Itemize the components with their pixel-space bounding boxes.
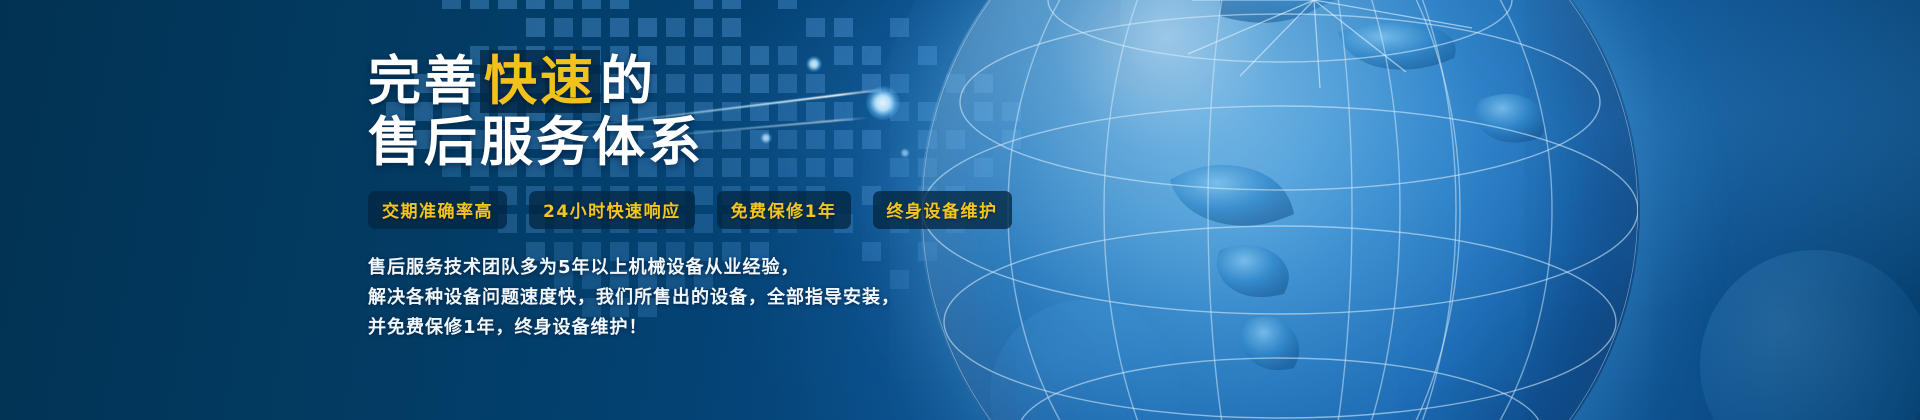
- mosaic-square: [442, 0, 461, 9]
- mosaic-square: [694, 18, 713, 37]
- mosaic-square: [722, 18, 741, 37]
- mosaic-square: [582, 0, 601, 9]
- mosaic-square: [890, 18, 909, 37]
- mosaic-square: [638, 18, 657, 37]
- description-line-2: 解决各种设备问题速度快，我们所售出的设备，全部指导安装，: [368, 283, 1088, 313]
- badge-lifetime-maintenance[interactable]: 终身设备维护: [873, 191, 1012, 229]
- headline-line-2: 售后服务体系: [368, 115, 1088, 171]
- mosaic-square: [778, 0, 797, 9]
- mosaic-square: [610, 18, 629, 37]
- description-line-1: 售后服务技术团队多为5年以上机械设备从业经验，: [368, 253, 1088, 283]
- headline: 完善快速的 售后服务体系: [368, 54, 1088, 171]
- bubble-icon: [1120, 0, 1270, 90]
- badge-24h-response[interactable]: 24小时快速响应: [529, 191, 695, 229]
- mosaic-square: [610, 0, 629, 9]
- badge-delivery-accuracy[interactable]: 交期准确率高: [368, 191, 507, 229]
- mosaic-square: [582, 18, 601, 37]
- bubble-icon: [1700, 250, 1920, 420]
- mosaic-square: [666, 18, 685, 37]
- badge-free-warranty[interactable]: 免费保修1年: [717, 191, 851, 229]
- mosaic-square: [526, 0, 545, 9]
- mosaic-square: [470, 0, 489, 9]
- mosaic-square: [694, 0, 713, 9]
- mosaic-square: [498, 0, 517, 9]
- mosaic-square: [722, 0, 741, 9]
- mosaic-square: [554, 18, 573, 37]
- description-paragraph: 售后服务技术团队多为5年以上机械设备从业经验， 解决各种设备问题速度快，我们所售…: [368, 253, 1088, 343]
- banner-content: 完善快速的 售后服务体系 交期准确率高 24小时快速响应 免费保修1年 终身设备…: [368, 54, 1088, 343]
- headline-prefix: 完善: [368, 51, 480, 112]
- headline-line-1: 完善快速的: [368, 54, 1088, 110]
- globe-continents: [1170, 0, 1584, 370]
- mosaic-square: [554, 0, 573, 9]
- mosaic-square: [806, 18, 825, 37]
- headline-suffix: 的: [600, 51, 656, 112]
- mosaic-square: [526, 18, 545, 37]
- headline-accent: 快速: [480, 50, 600, 113]
- badge-row: 交期准确率高 24小时快速响应 免费保修1年 终身设备维护: [368, 191, 1088, 229]
- mosaic-square: [834, 18, 853, 37]
- description-line-3: 并免费保修1年，终身设备维护！: [368, 313, 1088, 343]
- globe-polar-fan: [1170, 0, 1500, 88]
- service-banner: 完善快速的 售后服务体系 交期准确率高 24小时快速响应 免费保修1年 终身设备…: [0, 0, 1920, 420]
